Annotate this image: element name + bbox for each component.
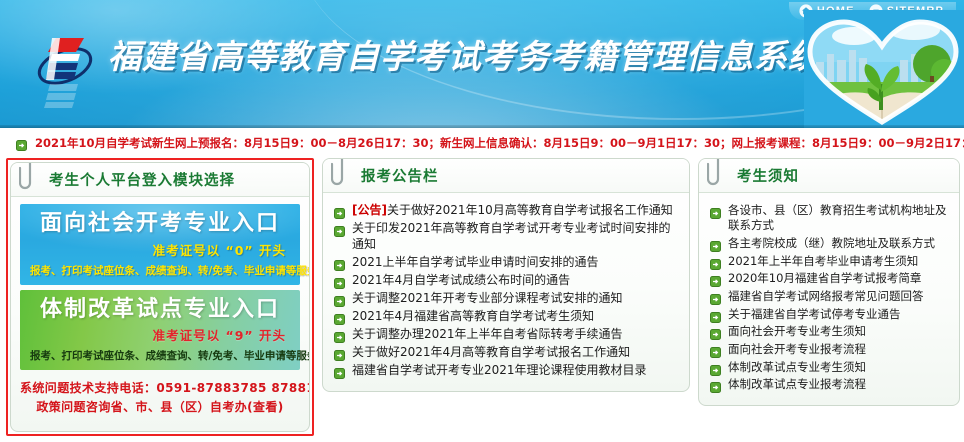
announcement-item-label: 2021年4月福建省高等教育自学考试考生须知 [352,309,594,325]
candidate-notice-item[interactable]: 各设市、县（区）教育招生考试机构地址及联系方式 [710,202,950,235]
announcement-panel-title: 报考公告栏 [361,165,439,186]
green-arrow-icon [334,294,345,305]
candidate-notice-item-label: 各主考院校成（继）教院地址及联系方式 [728,236,935,251]
green-arrow-icon [334,206,345,217]
entry-social-major-subtitle: 准考证号以 “0” 开头 [30,240,290,259]
candidate-notice-item[interactable]: 体制改革试点专业考生须知 [710,359,950,377]
announcement-item[interactable]: 福建省自学考试开考专业2021年理论课程使用教材目录 [334,362,680,380]
candidate-notice-item[interactable]: 2021年上半年自考毕业申请考生须知 [710,253,950,271]
announcement-tag: [公告] [352,203,387,217]
candidate-notice-item[interactable]: 2020年10月福建省自学考试报考简章 [710,270,950,288]
banner-title-text: 福建省高等教育自学考试考务考籍管理信息系统 [108,30,822,78]
paperclip-icon [19,162,41,193]
announcement-item[interactable]: 2021年4月福建省高等教育自学考试考生须知 [334,308,680,326]
support-policy[interactable]: 政策问题咨询省、市、县（区）自考办(查看) [20,398,300,417]
announcement-item-label: 关于调整办理2021年上半年自考省际转考手续通告 [352,327,623,343]
candidate-notice-panel-body: 各设市、县（区）教育招生考试机构地址及联系方式各主考院校成（继）教院地址及联系方… [699,193,959,405]
announcement-item-label: 福建省自学考试开考专业2021年理论课程使用教材目录 [352,363,647,379]
entry-social-major[interactable]: 面向社会开考专业入口 准考证号以 “0” 开头 报考、打印考试座位条、成绩查询、… [20,204,300,285]
candidate-notice-item-label: 体制改革试点专业考生须知 [728,360,866,375]
announcement-item-label: [公告]关于做好2021年10月高等教育自学考试报名工作通知 [352,203,673,219]
green-arrow-icon [334,330,345,341]
entry-reform-pilot-title: 体制改革试点专业入口 [30,298,290,323]
support-info: 系统问题技术支持电话：0591-87883785 87881896 政策问题咨询… [20,375,300,422]
green-arrow-icon [710,274,721,285]
candidate-notice-item-label: 2020年10月福建省自学考试报考简章 [728,271,921,286]
green-arrow-icon [710,327,721,338]
entry-reform-pilot-major[interactable]: 体制改革试点专业入口 准考证号以 “9” 开头 报考、打印考试座位条、成绩查询、… [20,290,300,371]
green-arrow-icon [710,239,721,250]
left-column: 考生个人平台登入模块选择 面向社会开考专业入口 准考证号以 “0” 开头 报考、… [6,158,314,436]
paperclip-icon [707,158,729,189]
green-arrow-icon [710,292,721,303]
green-arrow-icon [334,348,345,359]
candidate-notice-item-label: 福建省自学考试网络报考常见问题回答 [728,289,924,304]
banner-illustration [804,10,964,128]
candidate-notice-item[interactable]: 体制改革试点专业报考流程 [710,376,950,394]
candidate-notice-item[interactable]: 关于福建省自学考试停考专业通告 [710,306,950,324]
announcement-item-label: 2021上半年自学考试毕业申请时间安排的通告 [352,255,599,271]
candidate-notice-item[interactable]: 面向社会开考专业考生须知 [710,323,950,341]
announcement-item-label: 关于做好2021年4月高等教育自学考试报名工作通知 [352,345,630,361]
candidate-notice-item[interactable]: 面向社会开考专业报考流程 [710,341,950,359]
announcement-item[interactable]: 关于印发2021年高等教育自学考试开考专业考试时间安排的通知 [334,220,680,254]
green-arrow-icon [710,257,721,268]
candidate-notice-panel-title: 考生须知 [737,165,799,186]
candidate-notice-item-label: 面向社会开考专业报考流程 [728,342,866,357]
banner-edge [0,125,964,128]
announcement-item[interactable]: [公告]关于做好2021年10月高等教育自学考试报名工作通知 [334,202,680,220]
green-arrow-icon [710,345,721,356]
main-content: 考生个人平台登入模块选择 面向社会开考专业入口 准考证号以 “0” 开头 报考、… [0,158,964,436]
green-arrow-icon [334,366,345,377]
announcement-item[interactable]: 2021年4月自学考试成绩公布时间的通告 [334,272,680,290]
login-panel-header: 考生个人平台登入模块选择 [11,163,309,197]
site-banner: HOME SITEMRP [0,0,964,128]
candidate-notice-panel: 考生须知 各设市、县（区）教育招生考试机构地址及联系方式各主考院校成（继）教院地… [698,158,960,406]
announcement-item-label: 关于印发2021年高等教育自学考试开考专业考试时间安排的通知 [352,221,680,253]
candidate-notice-item-label: 关于福建省自学考试停考专业通告 [728,307,901,322]
announcement-panel-header: 报考公告栏 [323,159,689,193]
announcement-panel: 报考公告栏 [公告]关于做好2021年10月高等教育自学考试报名工作通知关于印发… [322,158,690,392]
entry-reform-pilot-desc: 报考、打印考试座位条、成绩查询、转/免考、毕业申请等服务 [30,348,290,363]
announcement-item[interactable]: 2021上半年自学考试毕业申请时间安排的通告 [334,254,680,272]
green-arrow-icon [710,380,721,391]
candidate-notice-list: 各设市、县（区）教育招生考试机构地址及联系方式各主考院校成（继）教院地址及联系方… [708,200,950,396]
candidate-notice-item-label: 各设市、县（区）教育招生考试机构地址及联系方式 [728,203,950,234]
page-root: HOME SITEMRP [0,0,964,442]
mid-column: 报考公告栏 [公告]关于做好2021年10月高等教育自学考试报名工作通知关于印发… [322,158,690,392]
green-arrow-icon [710,310,721,321]
login-panel-body: 面向社会开考专业入口 准考证号以 “0” 开头 报考、打印考试座位条、成绩查询、… [11,197,309,431]
green-arrow-icon [334,312,345,323]
announcement-panel-body: [公告]关于做好2021年10月高等教育自学考试报名工作通知关于印发2021年高… [323,193,689,391]
candidate-notice-item[interactable]: 福建省自学考试网络报考常见问题回答 [710,288,950,306]
notice-text: 2021年10月自学考试新生网上预报名：8月15日9：00－8月26日17：30… [35,135,964,151]
entry-reform-pilot-subtitle: 准考证号以 “9” 开头 [30,325,290,344]
green-arrow-icon [334,258,345,269]
banner-title: 福建省高等教育自学考试考务考籍管理信息系统 v 5.5 [108,30,907,78]
green-arrow-icon [710,206,721,217]
right-column: 考生须知 各设市、县（区）教育招生考试机构地址及联系方式各主考院校成（继）教院地… [698,158,960,406]
announcement-item[interactable]: 关于做好2021年4月高等教育自学考试报名工作通知 [334,344,680,362]
paperclip-icon [331,158,353,189]
login-panel: 考生个人平台登入模块选择 面向社会开考专业入口 准考证号以 “0” 开头 报考、… [10,162,310,432]
entry-social-major-desc: 报考、打印考试座位条、成绩查询、转/免考、毕业申请等服务 [30,263,290,278]
candidate-notice-item-label: 2021年上半年自考毕业申请考生须知 [728,254,918,269]
green-arrow-icon [16,138,27,149]
candidate-notice-item-label: 面向社会开考专业考生须知 [728,324,866,339]
entry-social-major-title: 面向社会开考专业入口 [30,212,290,237]
announcement-list: [公告]关于做好2021年10月高等教育自学考试报名工作通知关于印发2021年高… [332,200,680,382]
green-arrow-icon [334,224,345,235]
announcement-item-label: 2021年4月自学考试成绩公布时间的通告 [352,273,570,289]
notice-bar: 2021年10月自学考试新生网上预报名：8月15日9：00－8月26日17：30… [0,128,964,158]
announcement-item-label: 关于调整2021年开考专业部分课程考试安排的通知 [352,291,623,307]
candidate-notice-panel-header: 考生须知 [699,159,959,193]
green-arrow-icon [710,363,721,374]
support-phone: 系统问题技术支持电话：0591-87883785 87881896 [20,379,300,398]
site-logo [28,22,102,118]
announcement-item[interactable]: 关于调整办理2021年上半年自考省际转考手续通告 [334,326,680,344]
candidate-notice-item[interactable]: 各主考院校成（继）教院地址及联系方式 [710,235,950,253]
login-highlight-frame: 考生个人平台登入模块选择 面向社会开考专业入口 准考证号以 “0” 开头 报考、… [6,158,314,436]
green-arrow-icon [334,276,345,287]
announcement-item[interactable]: 关于调整2021年开考专业部分课程考试安排的通知 [334,290,680,308]
login-panel-title: 考生个人平台登入模块选择 [49,169,235,190]
candidate-notice-item-label: 体制改革试点专业报考流程 [728,377,866,392]
